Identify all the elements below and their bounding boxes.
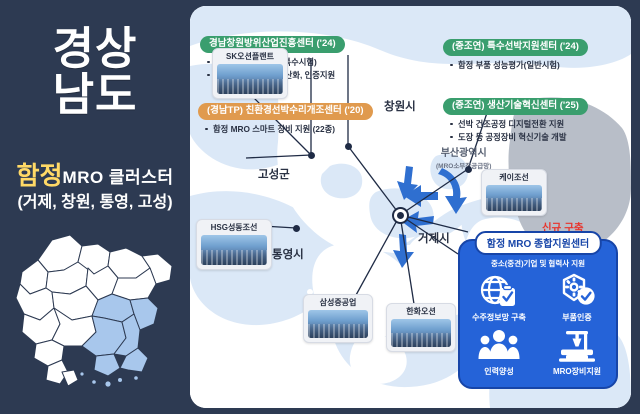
photo-card-hanwha-ocean[interactable]: 한화오션 — [386, 303, 456, 352]
callout-4-item-1: 도장 등 공정장비 혁신기술 개발 — [449, 131, 588, 144]
province-silhouette-map — [8, 222, 184, 402]
brand-panel: 경상 남도 함정MRO 클러스터 (거제, 창원, 통영, 고성) — [0, 0, 190, 414]
photo-card-k-shipbuilding[interactable]: 케이조선 — [481, 169, 547, 216]
map-node-geoje-hub[interactable] — [394, 209, 407, 222]
hub-title: 함정 MRO 종합지원센터 — [475, 231, 602, 255]
hub-label-order-network: 수주정보망 구축 — [460, 312, 538, 323]
photo-image-hanwha-ocean — [391, 319, 451, 347]
photo-caption-k-shipbuilding: 케이조선 — [486, 173, 542, 183]
callout-4-item-0: 선박 건조공정 디지털전환 지원 — [449, 118, 588, 131]
callout-4-list: 선박 건조공정 디지털전환 지원 도장 등 공정장비 혁신기술 개발 — [449, 118, 588, 144]
map-node-goseong[interactable] — [308, 152, 315, 159]
people-icon — [460, 325, 538, 365]
gear-check-icon — [538, 271, 616, 311]
photo-caption-samsung-heavy: 삼성중공업 — [308, 298, 368, 308]
city-label-changwon: 창원시 — [384, 98, 416, 114]
city-label-busan-sub: (MRO소부장공급망) — [436, 160, 491, 170]
callout-3-title: (중조연) 특수선박지원센터 ('24) — [443, 39, 588, 56]
callout-2-item-0: 함정 MRO 스마트 장비 지원 (22종) — [204, 123, 373, 136]
photo-image-samsung-heavy — [308, 310, 368, 338]
callout-box-4: (중조연) 생산기술혁신센터 ('25) 선박 건조공정 디지털전환 지원 도장… — [443, 95, 588, 144]
hub-cell-workforce[interactable]: 인력양성 — [460, 325, 538, 377]
photo-caption-hsg-sungdong: HSG성동조선 — [201, 223, 267, 233]
photo-caption-sk-ocean-plant: SK오션플랜트 — [217, 52, 283, 62]
map-node-tongyeong[interactable] — [293, 225, 300, 232]
city-label-busan-name: 부산광역시 — [441, 148, 487, 159]
map-node-changwon[interactable] — [345, 143, 352, 150]
photo-image-k-shipbuilding — [486, 185, 542, 211]
subtitle-rest: MRO 클러스터 — [63, 168, 174, 187]
hub-label-part-certification: 부품인증 — [538, 312, 616, 323]
callout-4-title: (중조연) 생산기술혁신센터 ('25) — [443, 98, 588, 115]
map-card: 경남창원방위산업진흥센터 ('24) 함정 부품 성능평가(특수시험) MRO … — [190, 6, 631, 408]
subtitle: 함정MRO 클러스터 — [0, 156, 190, 192]
title-line-1: 경상 — [53, 23, 138, 74]
callout-2-list: 함정 MRO 스마트 장비 지원 (22종) — [204, 123, 373, 136]
callout-3-item-0: 함정 부품 성능평가(일반시험) — [449, 59, 588, 72]
city-label-busan: 부산광역시 (MRO소부장공급망) — [436, 144, 491, 170]
photo-image-hsg-sungdong — [201, 235, 267, 265]
mro-machine-icon — [538, 325, 616, 365]
hub-cell-order-network[interactable]: 수주정보망 구축 — [460, 271, 538, 323]
callout-box-3: (중조연) 특수선박지원센터 ('24) 함정 부품 성능평가(일반시험) — [443, 36, 588, 72]
infographic-root: 경상 남도 함정MRO 클러스터 (거제, 창원, 통영, 고성) — [0, 0, 640, 414]
callout-2-title: (경남TP) 친환경선박수리개조센터 ('20) — [198, 103, 373, 120]
city-label-tongyeong: 통영시 — [272, 246, 304, 262]
globe-checklist-icon — [460, 271, 538, 311]
callout-3-list: 함정 부품 성능평가(일반시험) — [449, 59, 588, 72]
hub-cell-part-certification[interactable]: 부품인증 — [538, 271, 616, 323]
mro-support-center-panel: 함정 MRO 종합지원센터 중소(중견)기업 및 협력사 지원 — [458, 239, 618, 389]
city-label-goseong: 고성군 — [258, 166, 290, 182]
map-node-kshipyard[interactable] — [465, 166, 472, 173]
photo-card-hsg-sungdong[interactable]: HSG성동조선 — [196, 219, 272, 270]
page-title: 경상 남도 — [0, 26, 190, 118]
hub-label-mro-equipment: MRO장비지원 — [538, 366, 616, 377]
region-list: (거제, 창원, 통영, 고성) — [0, 188, 190, 212]
city-label-geoje: 거제시 — [418, 230, 450, 246]
photo-card-sk-ocean-plant[interactable]: SK오션플랜트 — [212, 48, 288, 99]
photo-caption-hanwha-ocean: 한화오션 — [391, 307, 451, 317]
photo-image-sk-ocean-plant — [217, 64, 283, 94]
subtitle-highlight: 함정 — [17, 162, 63, 190]
hub-cell-mro-equipment[interactable]: MRO장비지원 — [538, 325, 616, 377]
callout-box-2: (경남TP) 친환경선박수리개조센터 ('20) 함정 MRO 스마트 장비 지… — [198, 100, 373, 136]
photo-card-samsung-heavy[interactable]: 삼성중공업 — [303, 294, 373, 343]
hub-icon-grid: 수주정보망 구축 — [460, 271, 616, 377]
hub-label-workforce: 인력양성 — [460, 366, 538, 377]
title-line-2: 남도 — [0, 72, 190, 118]
hub-subtitle: 중소(중견)기업 및 협력사 지원 — [460, 258, 616, 269]
